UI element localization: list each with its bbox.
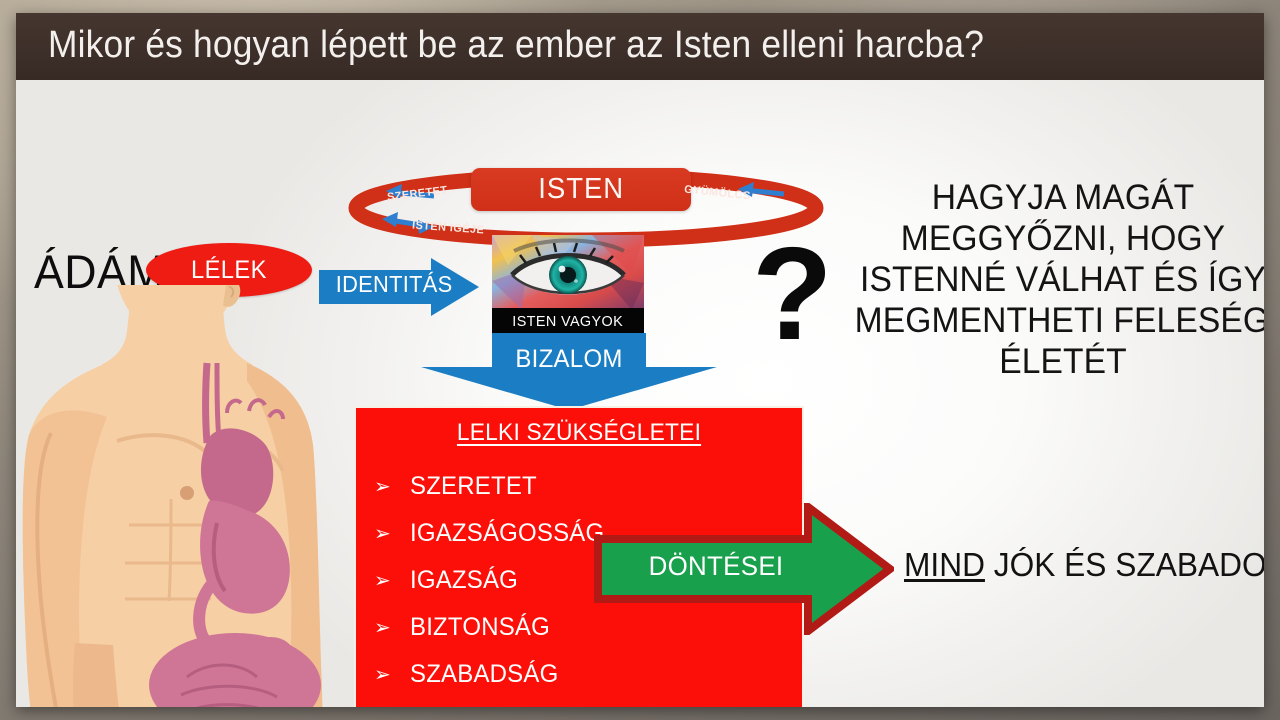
arrow-bullet-icon: ➢ [374,618,390,638]
question-mark: ? [752,228,833,360]
slide-title-bar: Mikor és hogyan lépett be az ember az Is… [16,13,1264,80]
list-item-label: BIZTONSÁG [410,613,550,642]
god-box: ISTEN [471,168,691,211]
presentation-slide: Mikor és hogyan lépett be az ember az Is… [16,13,1264,707]
arrow-bullet-icon: ➢ [374,477,390,497]
human-torso-illustration [21,285,351,707]
identity-caption: ISTEN VAGYOK [513,313,624,330]
statement-text: HAGYJA MAGÁT MEGGYŐZNI, HOGY ISTENNÉ VÁL… [855,178,1264,383]
list-item: ➢ SZABADSÁG [356,651,802,698]
outcome-emphasis: MIND [904,546,985,583]
arrow-bullet-icon: ➢ [374,665,390,685]
colorful-eye-image [492,235,644,310]
list-item: ➢ ÖSSZHANG [356,698,802,707]
arrow-bullet-icon: ➢ [374,571,390,591]
statement-line: ISTENNÉ VÁLHAT ÉS ÍGY [855,260,1264,301]
statement-line: MEGMENTHETI FELESÉGE [855,301,1264,342]
statement-line: HAGYJA MAGÁT [855,178,1264,219]
decisions-arrow: DÖNTÉSEI [594,503,894,635]
trust-arrow: BIZALOM [421,333,717,410]
decisions-arrow-label: DÖNTÉSEI [612,551,819,582]
list-item-label: SZERETET [410,472,537,501]
outcome-rest: JÓK ÉS SZABADOK [985,546,1264,583]
spiritual-needs-heading: LELKI SZÜKSÉGLETEI [367,419,791,447]
trust-arrow-label: BIZALOM [427,345,711,374]
statement-line: ÉLETÉT [855,342,1264,383]
list-item-label: IGAZSÁGOSSÁG [410,519,604,548]
list-item-label: IGAZSÁG [410,566,518,595]
list-item-label: SZABADSÁG [410,660,558,689]
arrow-bullet-icon: ➢ [374,524,390,544]
page-title: Mikor és hogyan lépett be az ember az Is… [48,24,984,67]
screen: Mikor és hogyan lépett be az ember az Is… [0,0,1280,720]
god-box-label: ISTEN [538,173,624,206]
identity-arrow: IDENTITÁS [319,258,479,316]
identity-caption-band: ISTEN VAGYOK [492,308,644,334]
identity-arrow-label: IDENTITÁS [336,271,441,298]
outcome-text: MIND JÓK ÉS SZABADOK [904,546,1264,584]
statement-line: MEGGYŐZNI, HOGY [855,219,1264,260]
slide-body: ÁDÁM LÉLEK [16,80,1264,707]
soul-label: LÉLEK [191,256,267,285]
